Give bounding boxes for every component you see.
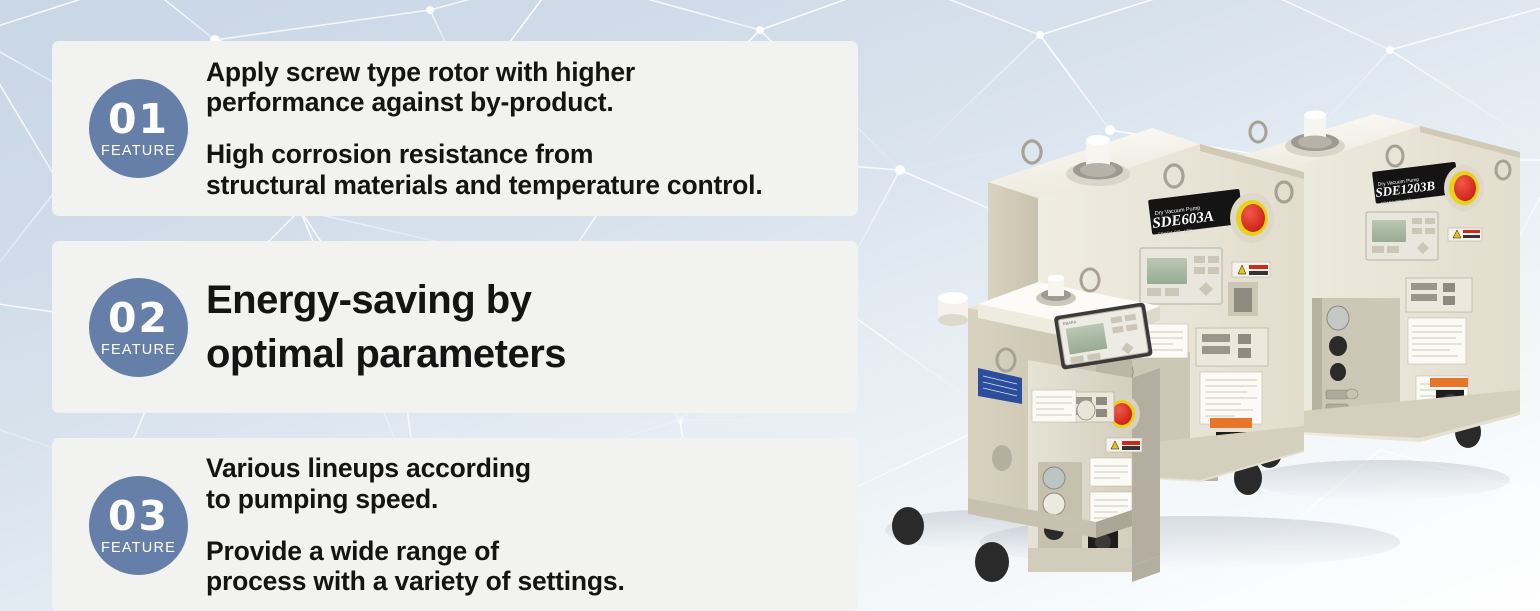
feature-text-02: Energy-saving by optimal parameters — [206, 273, 566, 381]
feature-badge-01: 01 FEATURE — [89, 79, 188, 178]
feature-line: performance against by-product. — [206, 87, 614, 117]
control-panel — [1140, 248, 1222, 304]
feature-card-02: 02 FEATURE Energy-saving by optimal para… — [52, 241, 858, 413]
side-vent — [992, 445, 1012, 471]
feature-line: process with a variety of settings. — [206, 566, 625, 596]
feature-line: Apply screw type rotor with higher — [206, 57, 635, 87]
warning-label — [1448, 228, 1482, 241]
feature-text-03: Various lineups according to pumping spe… — [206, 453, 625, 597]
feature-label: FEATURE — [101, 144, 176, 159]
connector-block — [1406, 278, 1472, 312]
warning-label — [1106, 438, 1142, 452]
control-panel — [1366, 212, 1438, 260]
feature-number: 03 — [108, 497, 169, 536]
feature-badge-03: 03 FEATURE — [89, 476, 188, 575]
feature-line: Various lineups according — [206, 453, 531, 483]
feature-card-list: 01 FEATURE Apply screw type rotor with h… — [52, 41, 858, 611]
feature-line: Energy-saving by — [206, 278, 531, 322]
feature-card-03: 03 FEATURE Various lineups according to … — [52, 438, 858, 611]
dial-gauge — [1077, 400, 1095, 420]
feature-paragraph: Various lineups according to pumping spe… — [206, 453, 625, 514]
feature-line: High corrosion resistance from — [206, 139, 593, 169]
feature-paragraph: Provide a wide range of process with a v… — [206, 536, 625, 597]
emergency-stop-button — [1444, 165, 1484, 211]
feature-text-01: Apply screw type rotor with higher perfo… — [206, 57, 763, 201]
feature-card-01: 01 FEATURE Apply screw type rotor with h… — [52, 41, 858, 216]
gauge-cluster — [1327, 306, 1349, 381]
emergency-stop-button — [1230, 193, 1274, 243]
warning-label — [1232, 262, 1270, 277]
connector-block — [1196, 328, 1268, 366]
feature-paragraph: High corrosion resistance from structura… — [206, 139, 763, 200]
feature-paragraph: Energy-saving by optimal parameters — [206, 273, 566, 381]
feature-number: 02 — [108, 299, 169, 338]
feature-label: FEATURE — [101, 541, 176, 556]
feature-line: structural materials and temperature con… — [206, 170, 763, 200]
feature-line: to pumping speed. — [206, 484, 438, 514]
feature-paragraph: Apply screw type rotor with higher perfo… — [206, 57, 763, 118]
access-box — [1228, 282, 1258, 316]
feature-label: FEATURE — [101, 343, 176, 358]
feature-line: Provide a wide range of — [206, 536, 499, 566]
feature-number: 01 — [108, 100, 169, 139]
inlet-port — [938, 292, 968, 326]
spec-label — [1032, 390, 1076, 422]
feature-line: optimal parameters — [206, 332, 566, 376]
product-photo: Dry Vacuum Pump SDE1203B EBARA CO., LTD. — [860, 60, 1540, 611]
feature-badge-02: 02 FEATURE — [89, 278, 188, 377]
